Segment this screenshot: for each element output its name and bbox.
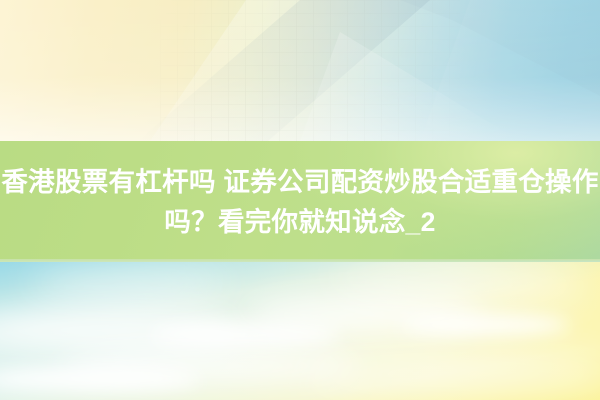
cloud-shape	[300, 354, 600, 394]
cloud-shape	[330, 268, 590, 302]
top-gradient-zone	[0, 0, 600, 141]
sky-backdrop	[0, 262, 600, 400]
title-line-2: 吗？看完你就知说念_2	[164, 202, 435, 242]
cloud-shape	[30, 272, 230, 302]
geometric-facets	[0, 0, 600, 141]
title-band: 香港股票有杠杆吗 证券公司配资炒股合适重仓操作 吗？看完你就知说念_2	[0, 141, 600, 262]
cloud-shape	[400, 314, 570, 336]
title-line-1: 香港股票有杠杆吗 证券公司配资炒股合适重仓操作	[1, 162, 598, 202]
cloud-shape	[0, 366, 200, 392]
article-banner-image: 香港股票有杠杆吗 证券公司配资炒股合适重仓操作 吗？看完你就知说念_2	[0, 0, 600, 400]
